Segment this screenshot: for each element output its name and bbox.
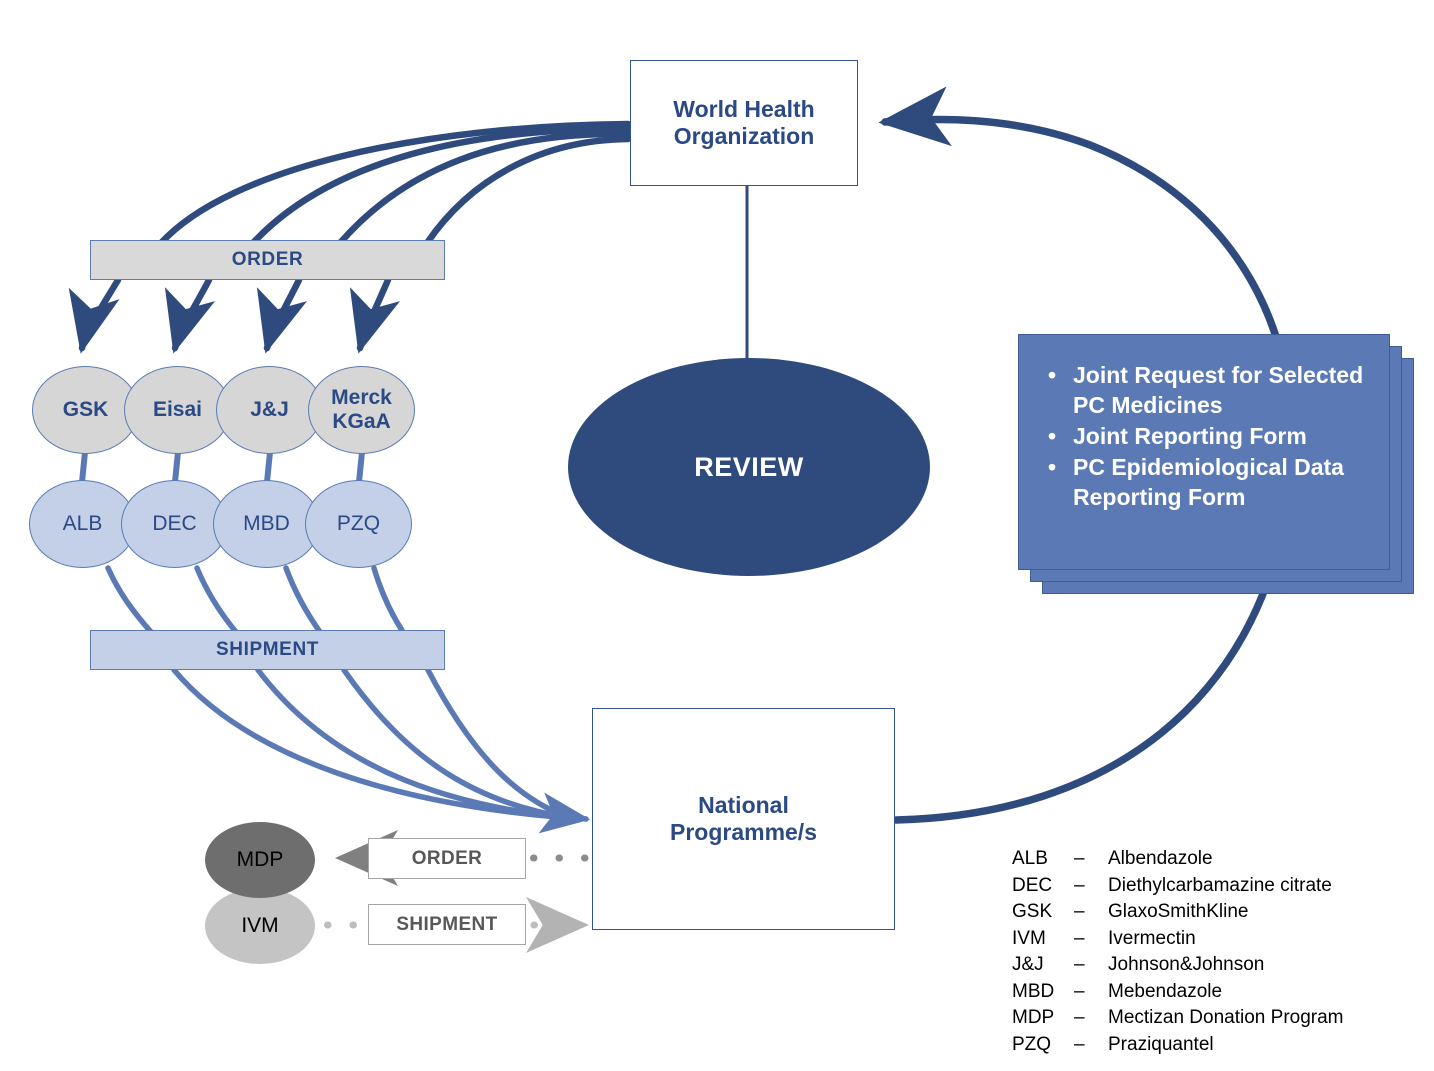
mdp-label: MDP xyxy=(237,848,284,872)
legend-dash: – xyxy=(1074,928,1108,950)
legend-row: IVM – Ivermectin xyxy=(1012,928,1344,955)
bullet-icon: • xyxy=(1048,453,1056,483)
legend-abbr: PZQ xyxy=(1012,1034,1074,1056)
order-to-company-arrows xyxy=(82,280,388,348)
company-label-eisai: Eisai xyxy=(153,398,202,422)
drug-oval-dec[interactable]: DEC xyxy=(121,480,228,568)
legend-abbr: GSK xyxy=(1012,901,1074,923)
company-drug-links xyxy=(82,452,362,482)
bullet-icon: • xyxy=(1048,361,1056,391)
legend-abbr: DEC xyxy=(1012,875,1074,897)
legend-row: DEC – Diethylcarbamazine citrate xyxy=(1012,875,1344,902)
forms-card-front[interactable]: • Joint Request for Selected PC Medicine… xyxy=(1018,334,1390,570)
who-title-line2: Organization xyxy=(673,123,814,150)
legend-term: Mectizan Donation Program xyxy=(1108,1007,1344,1029)
forms-list-item-1-text: Joint Request for Selected PC Medicines xyxy=(1073,362,1363,418)
review-label: REVIEW xyxy=(694,452,804,483)
ivm-label: IVM xyxy=(241,914,278,938)
legend-row: GSK – GlaxoSmithKline xyxy=(1012,901,1344,928)
shipment-bar-label: SHIPMENT xyxy=(216,639,319,661)
legend-term: Johnson&Johnson xyxy=(1108,954,1264,976)
forms-card-stack[interactable]: • Joint Request for Selected PC Medicine… xyxy=(1018,334,1414,594)
legend-row: J&J – Johnson&Johnson xyxy=(1012,954,1344,981)
legend-abbr: IVM xyxy=(1012,928,1074,950)
legend-row: MBD – Mebendazole xyxy=(1012,981,1344,1008)
company-label-merck-line2: KGaA xyxy=(331,410,392,434)
legend-abbr: J&J xyxy=(1012,954,1074,976)
legend-term: Ivermectin xyxy=(1108,928,1196,950)
legend-term: Diethylcarbamazine citrate xyxy=(1108,875,1332,897)
legend-dash: – xyxy=(1074,954,1108,976)
donation-shipment-label-box[interactable]: SHIPMENT xyxy=(368,904,526,945)
legend-term: Albendazole xyxy=(1108,848,1213,870)
legend-dash: – xyxy=(1074,1007,1108,1029)
bullet-icon: • xyxy=(1048,422,1056,452)
national-programme-box[interactable]: National Programme/s xyxy=(592,708,895,930)
national-programme-line1: National xyxy=(670,792,817,819)
legend-dash: – xyxy=(1074,981,1108,1003)
forms-list-item-3: • PC Epidemiological Data Reporting Form xyxy=(1043,453,1371,513)
order-request-curves xyxy=(161,124,628,243)
legend-row: MDP – Mectizan Donation Program xyxy=(1012,1007,1344,1034)
mdp-oval[interactable]: MDP xyxy=(205,822,315,898)
drug-label-dec: DEC xyxy=(152,512,196,536)
legend-row: PZQ – Praziquantel xyxy=(1012,1034,1344,1061)
company-oval-merck[interactable]: Merck KGaA xyxy=(308,366,415,454)
forms-list-item-3-text: PC Epidemiological Data Reporting Form xyxy=(1073,454,1344,510)
donation-shipment-label: SHIPMENT xyxy=(396,914,497,936)
ivm-oval[interactable]: IVM xyxy=(205,888,315,964)
order-bar-label: ORDER xyxy=(232,249,304,271)
donation-order-label: ORDER xyxy=(412,848,483,870)
legend-abbr: ALB xyxy=(1012,848,1074,870)
legend-term: Praziquantel xyxy=(1108,1034,1214,1056)
drug-oval-alb[interactable]: ALB xyxy=(29,480,136,568)
legend-dash: – xyxy=(1074,1034,1108,1056)
review-ellipse[interactable]: REVIEW xyxy=(568,358,930,576)
drug-label-mbd: MBD xyxy=(243,512,290,536)
order-bar[interactable]: ORDER xyxy=(90,240,445,280)
drug-to-shipment-links xyxy=(108,568,403,632)
legend-abbr: MDP xyxy=(1012,1007,1074,1029)
legend-dash: – xyxy=(1074,901,1108,923)
diagram-canvas: World Health Organization REVIEW ORDER S… xyxy=(0,0,1434,1071)
shipment-bar[interactable]: SHIPMENT xyxy=(90,630,445,670)
who-title-line1: World Health xyxy=(673,96,814,123)
drug-oval-mbd[interactable]: MBD xyxy=(213,480,320,568)
forms-list-item-2: • Joint Reporting Form xyxy=(1043,422,1371,452)
forms-list-item-2-text: Joint Reporting Form xyxy=(1073,423,1307,449)
donation-order-label-box[interactable]: ORDER xyxy=(368,838,526,879)
forms-list-item-1: • Joint Request for Selected PC Medicine… xyxy=(1043,361,1371,421)
company-oval-gsk[interactable]: GSK xyxy=(32,366,139,454)
company-label-jnj: J&J xyxy=(250,398,289,422)
legend-term: GlaxoSmithKline xyxy=(1108,901,1248,923)
legend-dash: – xyxy=(1074,875,1108,897)
company-oval-eisai[interactable]: Eisai xyxy=(124,366,231,454)
drug-oval-pzq[interactable]: PZQ xyxy=(305,480,412,568)
shipment-to-national-curves xyxy=(174,670,570,818)
drug-label-alb: ALB xyxy=(63,512,103,536)
company-oval-jnj[interactable]: J&J xyxy=(216,366,323,454)
drug-label-pzq: PZQ xyxy=(337,512,380,536)
legend-row: ALB – Albendazole xyxy=(1012,848,1344,875)
abbreviation-legend: ALB – Albendazole DEC – Diethylcarbamazi… xyxy=(1012,848,1344,1060)
national-programme-line2: Programme/s xyxy=(670,819,817,846)
legend-term: Mebendazole xyxy=(1108,981,1222,1003)
legend-dash: – xyxy=(1074,848,1108,870)
legend-abbr: MBD xyxy=(1012,981,1074,1003)
company-label-merck-line1: Merck xyxy=(331,386,392,410)
who-box[interactable]: World Health Organization xyxy=(630,60,858,186)
shipment-arrowhead xyxy=(520,810,586,819)
company-label-gsk: GSK xyxy=(63,398,109,422)
forms-list: • Joint Request for Selected PC Medicine… xyxy=(1043,361,1371,512)
